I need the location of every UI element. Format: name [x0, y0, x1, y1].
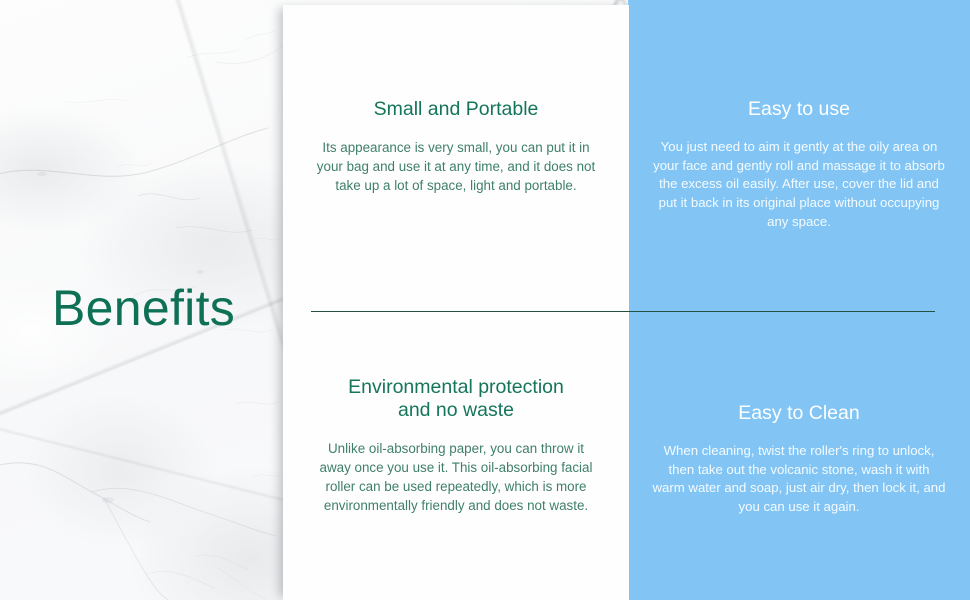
feature-heading: Easy to Clean: [738, 402, 859, 425]
feature-easy-to-clean: Easy to Clean When cleaning, twist the r…: [645, 402, 953, 517]
feature-heading-line-1: Environmental protection: [348, 376, 564, 399]
feature-body: Unlike oil-absorbing paper, you can thro…: [314, 439, 599, 515]
feature-environmental-protection: Environmental protection and no waste Un…: [299, 376, 613, 515]
feature-heading: Small and Portable: [374, 98, 539, 121]
horizontal-divider: [311, 311, 935, 312]
feature-body: Its appearance is very small, you can pu…: [316, 138, 596, 195]
feature-body: When cleaning, twist the roller's ring t…: [651, 442, 947, 517]
page-title: Benefits: [52, 283, 235, 333]
feature-small-and-portable: Small and Portable Its appearance is ver…: [299, 98, 613, 195]
feature-heading-line-2: and no waste: [348, 399, 564, 422]
feature-body: You just need to aim it gently at the oi…: [651, 138, 947, 232]
feature-heading: Easy to use: [748, 98, 850, 121]
feature-easy-to-use: Easy to use You just need to aim it gent…: [645, 98, 953, 232]
feature-heading: Environmental protection and no waste: [348, 376, 564, 422]
